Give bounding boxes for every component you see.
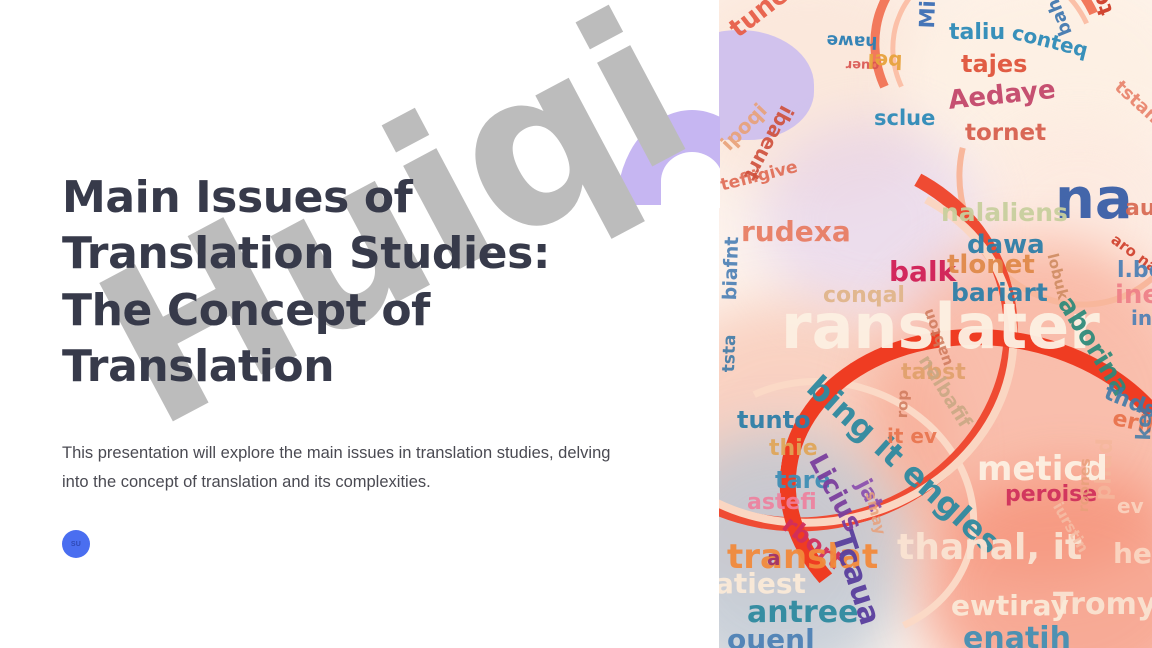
- word-cloud-word: nalaliens: [941, 200, 1068, 225]
- page-title: Main Issues of Translation Studies: The …: [62, 170, 654, 395]
- word-cloud-word: biafnt: [721, 236, 742, 300]
- slide-content: Main Issues of Translation Studies: The …: [62, 170, 662, 558]
- word-cloud-word: bel: [867, 51, 902, 72]
- word-cloud-word: hawe: [826, 31, 877, 50]
- word-cloud-word: atiest: [719, 570, 806, 598]
- slide-image-panel: tunerlatyipoqitefiigiveibaeurthaweouerbe…: [719, 0, 1152, 648]
- translation-word-cloud-image: tunerlatyipoqitefiigiveibaeurthaweouerbe…: [719, 0, 1152, 648]
- word-cloud-word: taliu: [949, 22, 1005, 44]
- avatar-initials: SU: [71, 541, 81, 548]
- word-cloud-word: thanal, it: [897, 530, 1082, 566]
- word-cloud-word: ev: [1117, 496, 1144, 516]
- presentation-slide: Huiqi Main Issues of Translation Studies…: [0, 0, 1152, 648]
- word-cloud-word: ewtiray: [951, 592, 1069, 620]
- word-cloud-word: tunto: [737, 408, 811, 432]
- word-cloud-word: au: [1125, 198, 1152, 220]
- word-cloud-word: inye: [1131, 308, 1152, 328]
- word-cloud-word: tlonet: [947, 252, 1035, 278]
- word-cloud-word: tsta: [721, 334, 739, 372]
- word-cloud-word: it ev: [887, 426, 937, 446]
- word-cloud-word: a: [767, 548, 781, 568]
- word-cloud-word: ker: [1133, 404, 1152, 441]
- word-cloud-word: enatih: [963, 624, 1071, 648]
- word-cloud-word: l.bou: [1117, 260, 1152, 282]
- word-cloud-word: tornet: [965, 122, 1046, 145]
- slide-text-panel: Huiqi Main Issues of Translation Studies…: [0, 0, 720, 648]
- word-cloud-word: roones: [1077, 458, 1093, 512]
- word-cloud-word: tajes: [961, 52, 1027, 76]
- avatar[interactable]: SU: [62, 530, 90, 558]
- word-cloud-word: rop: [895, 390, 911, 419]
- word-cloud-word: inete: [1115, 282, 1152, 308]
- word-cloud-word: he: [1113, 540, 1152, 568]
- word-cloud-word: sclue: [874, 108, 935, 129]
- word-cloud-word: thie: [769, 438, 818, 460]
- slide-subtitle: This presentation will explore the main …: [62, 439, 628, 496]
- word-cloud-word: Mitsedritiw: [917, 0, 943, 29]
- word-cloud-word: rudexa: [741, 218, 851, 246]
- word-cloud-word: ouenl: [727, 626, 815, 648]
- word-cloud-word: astefi: [747, 492, 817, 514]
